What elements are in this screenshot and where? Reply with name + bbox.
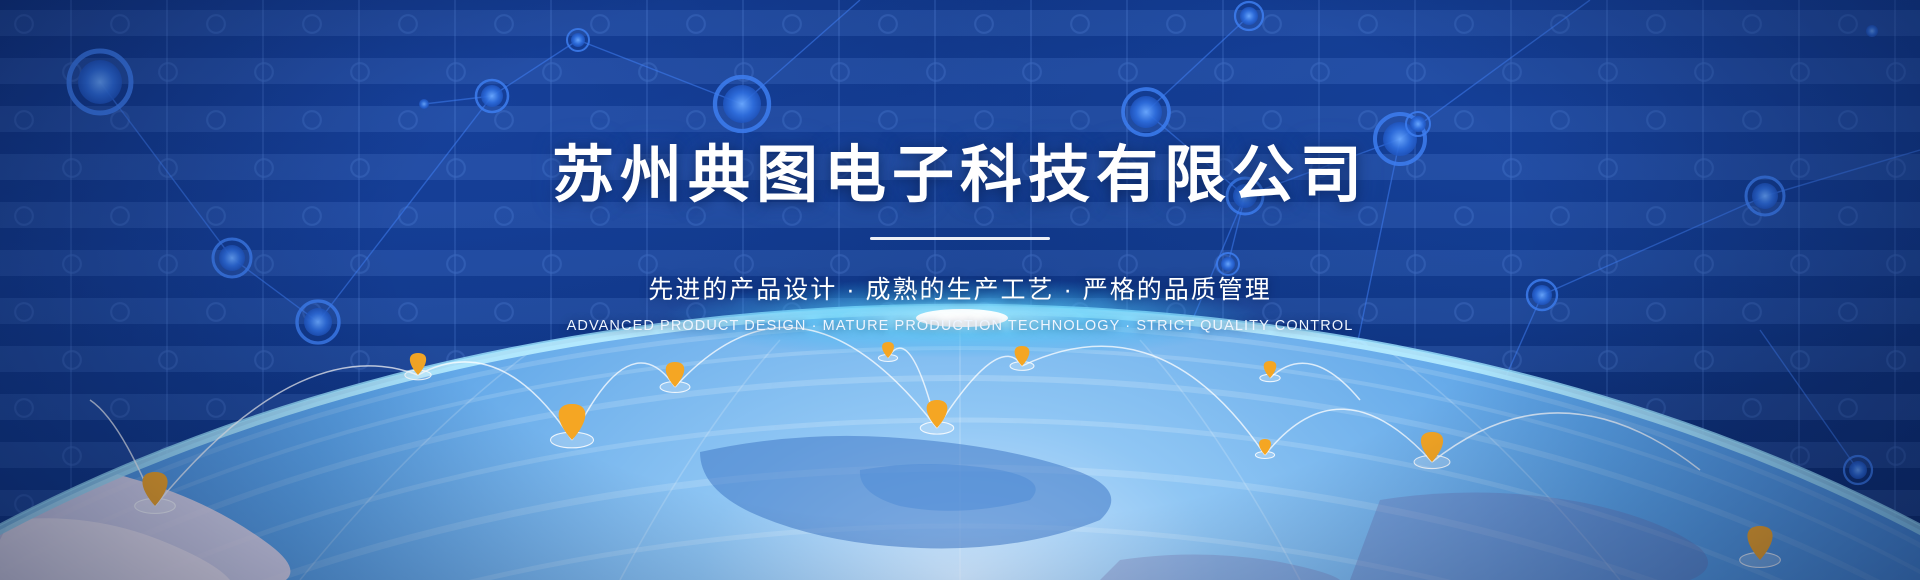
location-pin-icon bbox=[1740, 526, 1781, 567]
connection-arc bbox=[1265, 409, 1432, 462]
connection-arc bbox=[1270, 363, 1360, 400]
connection-arc bbox=[1022, 346, 1265, 455]
location-pin-icon bbox=[135, 472, 176, 513]
title-divider bbox=[870, 237, 1050, 240]
connection-arc bbox=[418, 362, 572, 440]
hero-banner: 苏州典图电子科技有限公司 先进的产品设计 · 成熟的生产工艺 · 严格的品质管理… bbox=[0, 0, 1920, 580]
page-title: 苏州典图电子科技有限公司 bbox=[0, 140, 1920, 211]
location-pin-icon bbox=[1414, 432, 1450, 469]
slogan-chinese: 先进的产品设计 · 成熟的生产工艺 · 严格的品质管理 bbox=[0, 270, 1920, 306]
slogan-english: ADVANCED PRODUCT DESIGN · MATURE PRODUCT… bbox=[0, 318, 1920, 334]
banner-text-block: 苏州典图电子科技有限公司 先进的产品设计 · 成熟的生产工艺 · 严格的品质管理… bbox=[0, 0, 1920, 334]
location-pin-icon bbox=[660, 362, 690, 392]
connection-arc bbox=[937, 356, 1022, 428]
connection-arc bbox=[675, 327, 937, 428]
location-pin-icon bbox=[1255, 439, 1274, 458]
connection-arc bbox=[155, 366, 418, 506]
location-pin-icon bbox=[920, 400, 953, 434]
connection-arc bbox=[1432, 413, 1700, 470]
connection-arc bbox=[572, 363, 675, 440]
location-pin-icon bbox=[878, 342, 897, 361]
location-pin-icon bbox=[405, 353, 431, 380]
